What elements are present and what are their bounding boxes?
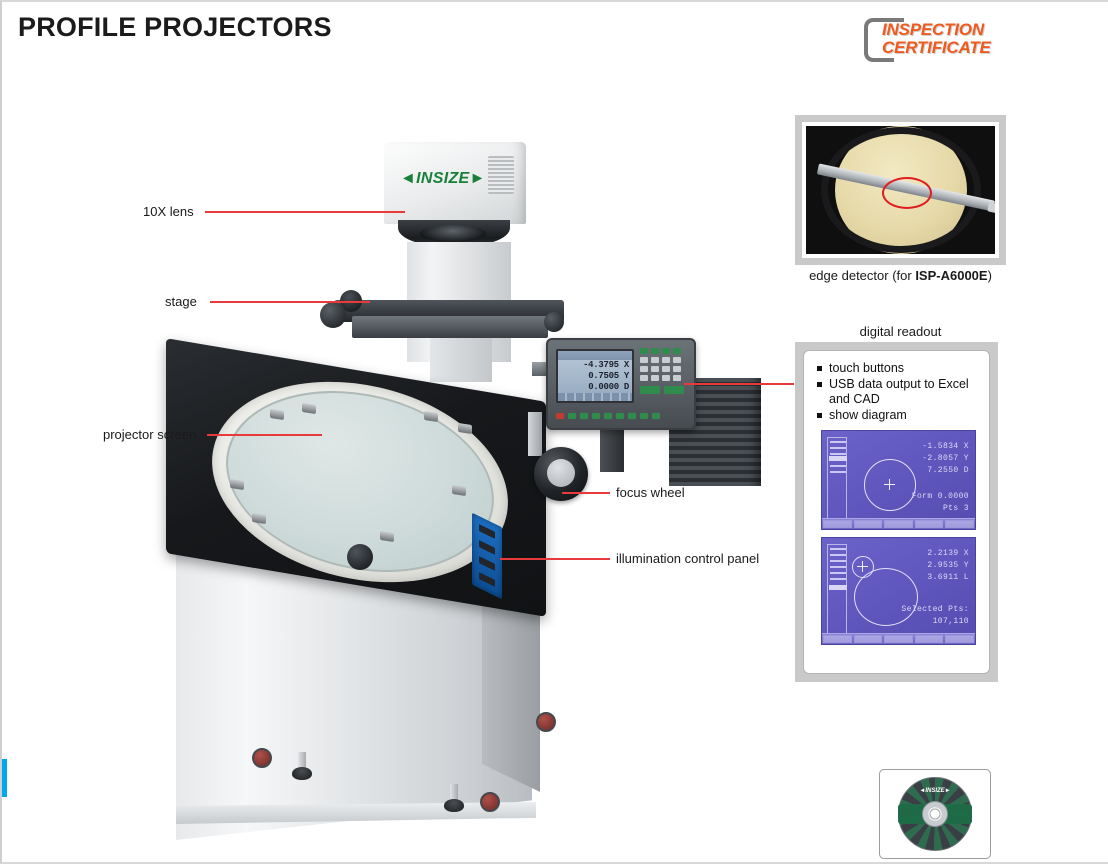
edge-detector-caption: edge detector (for ISP-A6000E) — [795, 268, 1006, 283]
edge-detector-photo — [806, 126, 995, 254]
edge-detector-highlight-circle — [882, 177, 932, 209]
edge-caption-prefix: edge detector (for — [809, 268, 915, 283]
screen-sidebar — [827, 544, 847, 634]
leader-line-illumination-panel — [500, 558, 610, 560]
focus-wheel-stem — [528, 412, 542, 456]
screen-center-crosshair — [884, 479, 895, 490]
screen-stat-selected-pts-label: Selected Pts: — [901, 604, 969, 616]
profile-projector-photo: ◄INSIZE► — [152, 112, 712, 837]
dro-screenshot-2: 2.2139 X 2.9535 Y 3.6911 L Selected Pts:… — [821, 537, 976, 645]
caster-wheel — [252, 740, 274, 768]
digital-readout-panel: touch buttons USB data output to Excel a… — [795, 342, 998, 682]
caster-wheel — [536, 704, 558, 732]
blue-edge-accent — [2, 759, 7, 797]
taskbar-button[interactable] — [854, 520, 883, 528]
screen-stat-form: Form 0.0000 — [912, 491, 969, 503]
screen-value-x: -1.5834 X — [922, 441, 969, 453]
dro-value-x: -4.3795 X — [558, 360, 632, 371]
callout-projector-screen: projector screen — [103, 427, 196, 442]
feature-item: USB data output to Excel and CAD — [816, 377, 981, 407]
feature-item: show diagram — [816, 408, 981, 423]
screen-value-d: 7.2550 D — [922, 465, 969, 477]
dro-stand — [600, 428, 624, 472]
inspection-certificate-logo: INSPECTION CERTIFICATE — [864, 16, 1014, 64]
taskbar-button[interactable] — [945, 520, 974, 528]
leveling-foot — [444, 784, 464, 814]
cd-center-hole — [930, 809, 941, 820]
dro-function-row[interactable] — [556, 413, 690, 422]
dro-value-d: 0.0000 D — [558, 382, 632, 393]
focus-wheel-hub — [547, 459, 575, 487]
taskbar-button[interactable] — [884, 635, 913, 643]
certificate-line1: INSPECTION — [882, 21, 991, 39]
screen-stat-selected-pts-value: 107,110 — [901, 616, 969, 628]
screen-value-y: -2.8057 Y — [922, 453, 969, 465]
leader-line-stage — [210, 301, 370, 303]
leveling-foot — [292, 752, 312, 782]
screen-point-marker — [857, 561, 862, 566]
digital-readout-title: digital readout — [795, 324, 1006, 339]
page-root: PROFILE PROJECTORS INSPECTION CERTIFICAT… — [0, 0, 1108, 864]
leader-line-projector-screen — [207, 434, 322, 436]
screen-value-l: 3.6911 L — [927, 572, 969, 584]
software-cd-panel: ◄INSIZE► — [879, 769, 991, 859]
stage-knob-right — [544, 312, 564, 332]
dro-lcd-screen: -4.3795 X 0.7505 Y 0.0000 D — [556, 349, 634, 403]
dro-value-y: 0.7505 Y — [558, 371, 632, 382]
cd-insize-logo: ◄INSIZE► — [919, 788, 950, 794]
leader-line-10x-lens — [205, 211, 405, 213]
screen-point-circle — [852, 556, 874, 578]
taskbar-button[interactable] — [823, 520, 852, 528]
certificate-line2: CERTIFICATE — [882, 39, 991, 57]
callout-10x-lens: 10X lens — [143, 204, 194, 219]
taskbar-button[interactable] — [884, 520, 913, 528]
projector-head: ◄INSIZE► — [384, 142, 526, 224]
edge-caption-suffix: ) — [988, 268, 992, 283]
illumination-switch — [479, 524, 495, 539]
edge-detector-panel — [795, 115, 1006, 265]
cd-disc-icon: ◄INSIZE► — [898, 777, 972, 851]
taskbar-button[interactable] — [915, 520, 944, 528]
illumination-switch — [479, 556, 495, 571]
lens-10x — [420, 225, 486, 242]
head-vent-icon — [488, 156, 514, 194]
callout-focus-wheel: focus wheel — [616, 485, 685, 500]
page-title: PROFILE PROJECTORS — [18, 12, 332, 43]
illumination-switch — [479, 540, 495, 555]
taskbar-button[interactable] — [915, 635, 944, 643]
feature-item: touch buttons — [816, 361, 981, 376]
screen-value-x: 2.2139 X — [927, 548, 969, 560]
screen-stat-pts: Pts 3 — [912, 503, 969, 515]
dro-screenshot-1: -1.5834 X -2.8057 Y 7.2550 D Form 0.0000… — [821, 430, 976, 530]
insize-brand-logo: ◄INSIZE► — [400, 170, 486, 188]
column-base — [430, 337, 492, 382]
dro-unit: -4.3795 X 0.7505 Y 0.0000 D — [546, 338, 696, 430]
caster-wheel — [480, 784, 502, 812]
screen-lock-knob — [347, 544, 373, 570]
leader-line-focus-wheel — [562, 492, 610, 494]
callout-illumination-control-panel: illumination control panel — [616, 551, 759, 566]
screen-stats: Selected Pts: 107,110 — [901, 604, 969, 628]
screen-values: 2.2139 X 2.9535 Y 3.6911 L — [927, 548, 969, 584]
screen-values: -1.5834 X -2.8057 Y 7.2550 D — [922, 441, 969, 477]
digital-readout-feature-list: touch buttons USB data output to Excel a… — [816, 361, 981, 423]
screen-sidebar — [827, 437, 847, 519]
dro-keypad[interactable] — [640, 348, 692, 406]
taskbar-button[interactable] — [945, 635, 974, 643]
edge-detector-probe-tip — [987, 202, 995, 214]
callout-stage: stage — [165, 294, 197, 309]
screen-taskbar[interactable] — [822, 633, 975, 644]
certificate-text: INSPECTION CERTIFICATE — [882, 21, 991, 57]
screen-value-y: 2.9535 Y — [927, 560, 969, 572]
stage-plate — [352, 316, 548, 338]
edge-caption-model: ISP-A6000E — [915, 268, 987, 283]
stage-knob-left — [320, 302, 346, 328]
screen-stats: Form 0.0000 Pts 3 — [912, 491, 969, 515]
taskbar-button[interactable] — [823, 635, 852, 643]
leader-line-dro — [684, 383, 794, 385]
screen-taskbar[interactable] — [822, 518, 975, 529]
illumination-control-panel — [472, 513, 502, 600]
taskbar-button[interactable] — [854, 635, 883, 643]
illumination-switch — [479, 572, 495, 587]
